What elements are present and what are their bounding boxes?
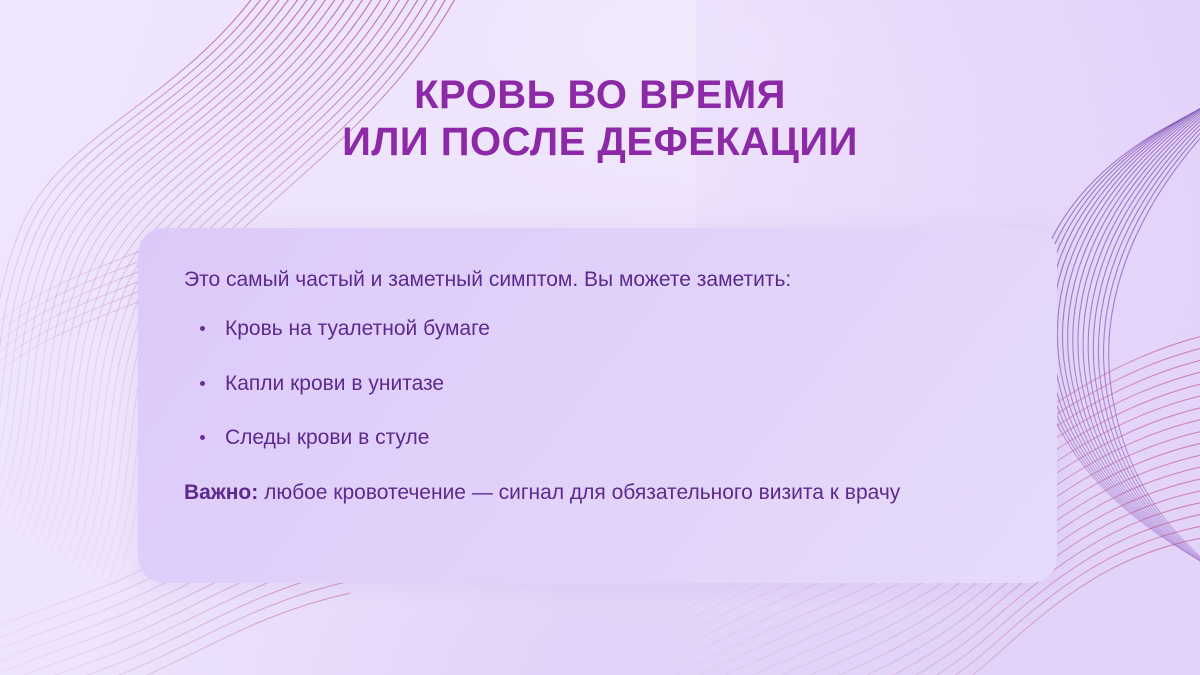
important-note-text: любое кровотечение — сигнал для обязател… [258,481,900,504]
intro-text: Это самый частый и заметный симптом. Вы … [184,266,1005,293]
slide-canvas: КРОВЬ ВО ВРЕМЯ ИЛИ ПОСЛЕ ДЕФЕКАЦИИ Это с… [0,0,1200,675]
bullet-dot-icon [200,326,205,331]
list-item-label: Кровь на туалетной бумаге [225,315,490,342]
bullet-dot-icon [200,435,205,440]
title-line-2: ИЛИ ПОСЛЕ ДЕФЕКАЦИИ [0,119,1200,166]
page-title: КРОВЬ ВО ВРЕМЯ ИЛИ ПОСЛЕ ДЕФЕКАЦИИ [0,72,1200,166]
important-note-label: Важно: [184,481,258,504]
content-card: Это самый частый и заметный симптом. Вы … [138,228,1057,583]
list-item: Следы крови в стуле [200,424,1005,451]
list-item: Кровь на туалетной бумаге [200,315,1005,342]
important-note: Важно: любое кровотечение — сигнал для о… [184,478,1005,508]
list-item-label: Капли крови в унитазе [225,370,444,397]
bullet-dot-icon [200,381,205,386]
title-line-1: КРОВЬ ВО ВРЕМЯ [0,72,1200,119]
list-item: Капли крови в унитазе [200,370,1005,397]
symptom-list: Кровь на туалетной бумаге Капли крови в … [184,315,1005,451]
list-item-label: Следы крови в стуле [225,424,429,451]
